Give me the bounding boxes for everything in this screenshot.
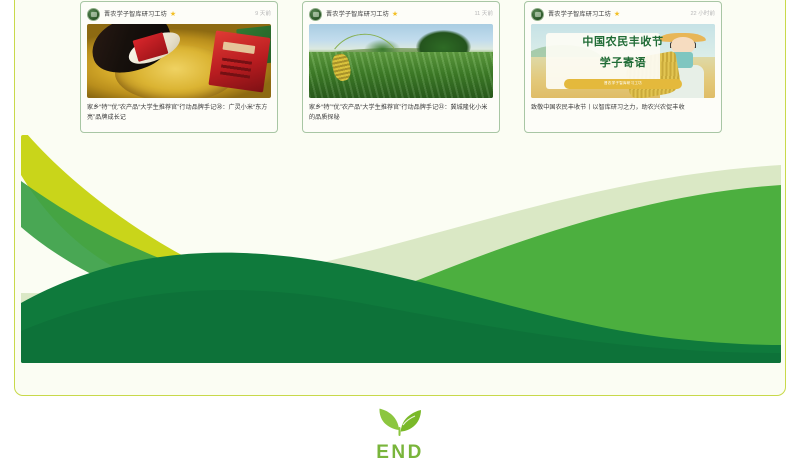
post-title[interactable]: 致敬中国农民丰收节丨以智库研习之力，助农兴农促丰收 (531, 103, 715, 113)
end-label: END (376, 442, 424, 464)
post-title[interactable]: 家乡“特”“优”农产品“大学生推荐官”行动品牌手记㉘：广灵小米“东方亮”品牌成长… (87, 103, 271, 122)
related-posts-strip: 晋农学子智库研习工坊 ★ 9 天前 家乡“特”“优”农产品“大学生推荐官”行动品… (15, 1, 786, 133)
account-avatar (531, 8, 544, 21)
harvest-festival-poster[interactable]: 中国农民丰收节 学子寄语 晋农学子智库研习工坊 (531, 24, 715, 98)
poster-account-tag: 晋农学子智库研习工坊 (564, 79, 682, 89)
millet-bowl-photo[interactable] (87, 24, 271, 98)
star-icon: ★ (614, 9, 620, 20)
poster-headline-line2: 学子寄语 (531, 54, 715, 70)
post-timestamp: 9 天前 (255, 9, 271, 20)
card-header: 晋农学子智库研习工坊 ★ 11 天前 (309, 7, 493, 21)
account-avatar (309, 8, 322, 21)
post-card[interactable]: 晋农学子智库研习工坊 ★ 9 天前 家乡“特”“优”农产品“大学生推荐官”行动品… (80, 1, 278, 133)
post-timestamp: 11 天前 (474, 9, 493, 20)
star-icon: ★ (392, 9, 398, 20)
star-icon: ★ (170, 9, 176, 20)
poster-headline-line1: 中国农民丰收节 (531, 33, 715, 49)
card-header: 晋农学子智库研习工坊 ★ 22 小时前 (531, 7, 715, 21)
post-card[interactable]: 晋农学子智库研习工坊 ★ 22 小时前 中国农民丰收节 学子寄语 晋农学子智库研… (524, 1, 722, 133)
account-name: 晋农学子智库研习工坊 (548, 9, 611, 20)
account-avatar (87, 8, 100, 21)
red-package-shape (209, 31, 271, 93)
card-header: 晋农学子智库研习工坊 ★ 9 天前 (87, 7, 271, 21)
account-name: 晋农学子智库研习工坊 (326, 9, 389, 20)
corn-field-photo[interactable] (309, 24, 493, 98)
account-name: 晋农学子智库研习工坊 (104, 9, 167, 20)
sprout-leaves-icon (378, 406, 422, 441)
green-wave-decoration (21, 135, 781, 363)
article-end-block: END (0, 402, 800, 466)
post-card[interactable]: 晋农学子智库研习工坊 ★ 11 天前 家乡“特”“优”农产品“大学生推荐官”行动… (302, 1, 500, 133)
post-timestamp: 22 小时前 (690, 9, 715, 20)
post-title[interactable]: 家乡“特”“优”农产品“大学生推荐官”行动品牌手记㉒：冀城隆化小米的品质探秘 (309, 103, 493, 122)
article-frame: 晋农学子智库研习工坊 ★ 9 天前 家乡“特”“优”农产品“大学生推荐官”行动品… (14, 0, 786, 396)
